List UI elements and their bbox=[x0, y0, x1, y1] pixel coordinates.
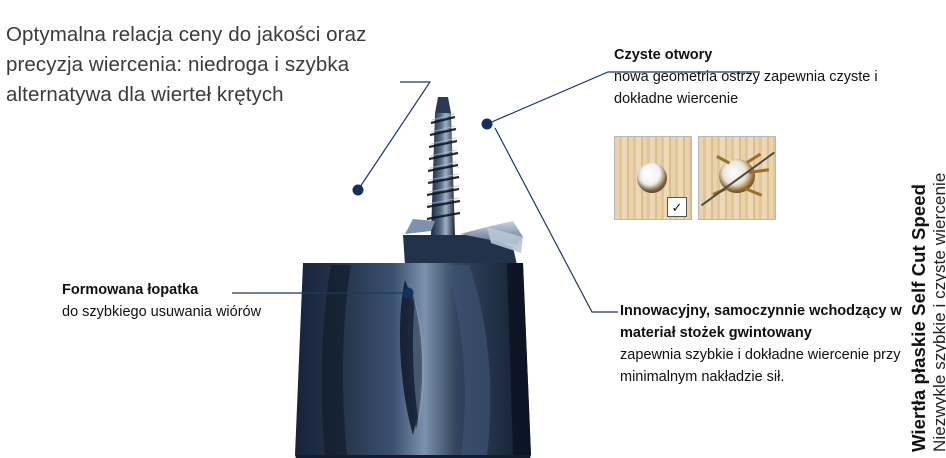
flat-blade-body bbox=[295, 263, 531, 458]
product-tagline: Niezwykle szybkie i czyste wiercenie bbox=[930, 173, 946, 452]
callout-clean-holes-title: Czyste otwory bbox=[614, 44, 914, 66]
photo-splintered-hole bbox=[698, 136, 776, 220]
vertical-title-block: Wiertła płaskie Self Cut Speed Niezwykle… bbox=[902, 0, 946, 458]
checkmark-badge: ✓ bbox=[667, 197, 687, 217]
callout-clean-holes-body: nowa geometria ostrzy zapewnia czyste i … bbox=[614, 66, 914, 110]
page-root: Optymalna relacja ceny do jakości oraz p… bbox=[0, 0, 946, 458]
callout-blade: Formowana łopatka do szybkiego usuwania … bbox=[62, 279, 302, 323]
callout-screw-tip-body: zapewnia szybkie i dokładne wiercenie pr… bbox=[620, 344, 905, 388]
product-name: Wiertła płaskie Self Cut Speed bbox=[908, 184, 930, 452]
callout-clean-holes: Czyste otwory nowa geometria ostrzy zape… bbox=[614, 44, 914, 110]
cutting-head bbox=[403, 219, 523, 265]
threaded-tip bbox=[427, 97, 460, 235]
comparison-photos: ✓ bbox=[614, 136, 776, 220]
photo-clean-hole: ✓ bbox=[614, 136, 692, 220]
callout-blade-body: do szybkiego usuwania wiórów bbox=[62, 301, 302, 323]
clean-hole bbox=[637, 163, 667, 193]
drill-bit-illustration bbox=[255, 95, 585, 458]
callout-blade-title: Formowana łopatka bbox=[62, 279, 302, 301]
callout-screw-tip: Innowacyjny, samoczynnie wchodzący w mat… bbox=[620, 300, 905, 388]
callout-screw-tip-title: Innowacyjny, samoczynnie wchodzący w mat… bbox=[620, 300, 905, 344]
